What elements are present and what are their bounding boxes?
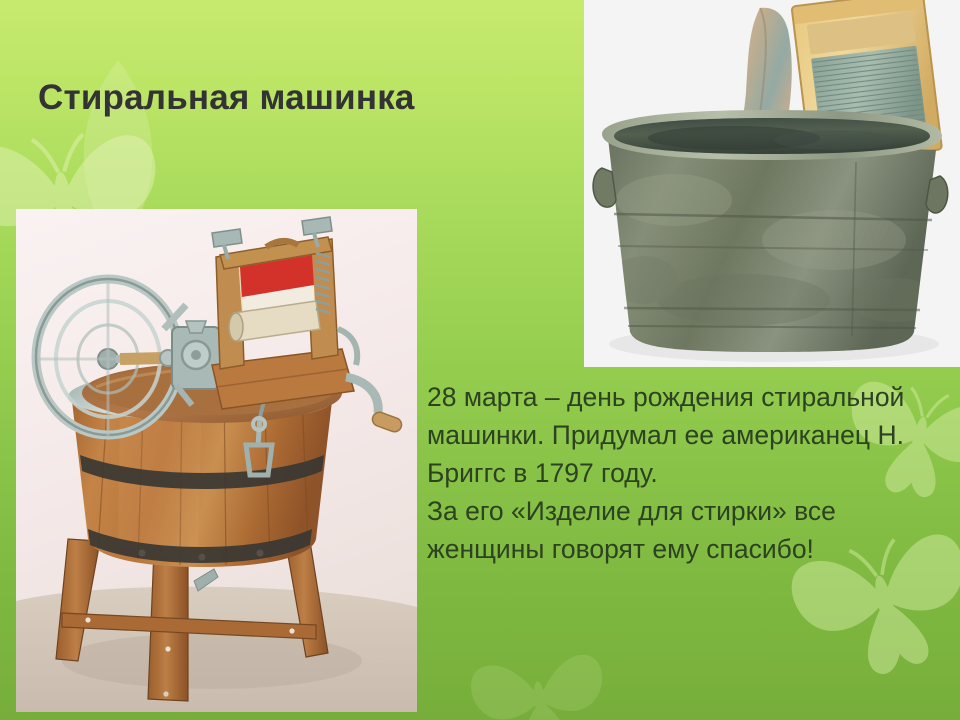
presentation-slide: Стиральная машинка 28 марта – день рожде…	[0, 0, 960, 720]
image-washing-machine	[16, 209, 417, 712]
body-paragraph-2: За его «Изделие для стирки» все женщины …	[427, 492, 935, 568]
body-paragraph-1: 28 марта – день рождения стиральной маши…	[427, 378, 935, 492]
slide-body-text: 28 марта – день рождения стиральной маши…	[427, 378, 935, 568]
image-washtub	[584, 0, 960, 367]
washing-machine-illustration	[16, 209, 417, 712]
slide-title: Стиральная машинка	[38, 78, 415, 118]
butterfly-icon	[462, 631, 617, 720]
washtub-illustration	[584, 0, 960, 367]
